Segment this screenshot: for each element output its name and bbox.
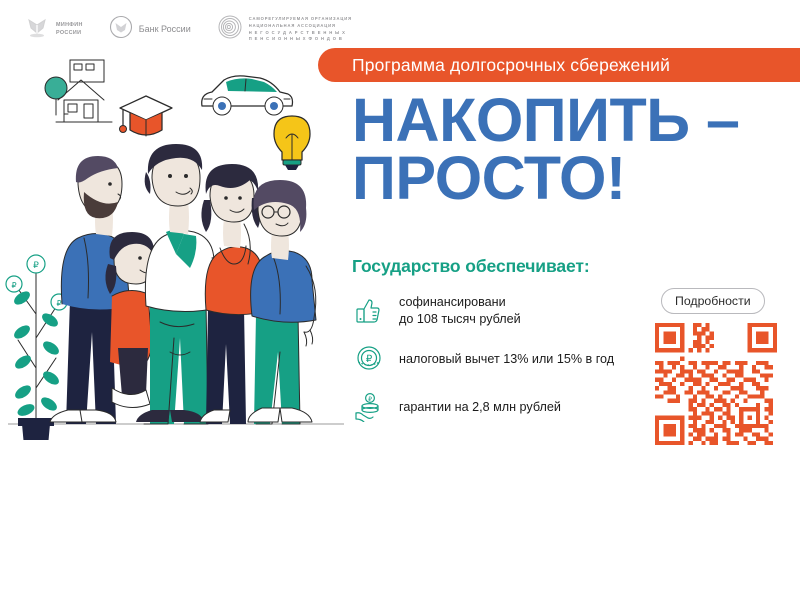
details-button-label: Подробности	[675, 294, 751, 308]
benefit-item-cofinancing: софинансировани до 108 тысяч рублей	[352, 287, 652, 335]
logo-strip: МИНФИНРОССИИ Банк России	[24, 14, 352, 45]
house-icon	[45, 60, 112, 122]
minfin-logo-text: МИНФИНРОССИИ	[56, 22, 83, 38]
page-title: НАКОПИТЬ – ПРОСТО!	[352, 92, 792, 208]
napf-logo: САМОРЕГУЛИРУЕМАЯ ОРГАНИЗАЦИЯ НАЦИОНАЛЬНА…	[217, 14, 352, 45]
figure-grandmother	[251, 180, 316, 424]
double-headed-eagle-icon	[109, 15, 133, 44]
headline-line-2: ПРОСТО!	[352, 150, 792, 208]
benefit-text: налоговый вычет 13% или 15% в год	[399, 351, 614, 368]
benefits-subheading: Государство обеспечивает:	[352, 256, 590, 277]
banner-text: Программа долгосрочных сбережений	[352, 55, 670, 76]
svg-text:₽: ₽	[11, 281, 16, 290]
double-headed-eagle-icon	[24, 14, 50, 45]
thumbs-up-icon	[352, 294, 386, 328]
benefit-item-tax-deduction: ₽ налоговый вычет 13% или 15% в год	[352, 335, 652, 383]
lightbulb-icon	[274, 116, 310, 170]
hand-with-coins-icon: ₽	[352, 390, 386, 424]
car-icon	[202, 76, 293, 115]
ruble-coin-icon: ₽	[352, 342, 386, 376]
svg-text:₽: ₽	[366, 354, 373, 365]
bank-rossii-logo-text: Банк России	[139, 23, 191, 36]
svg-text:₽: ₽	[33, 260, 39, 270]
shoes	[50, 408, 312, 422]
benefit-text: софинансировани до 108 тысяч рублей	[399, 294, 521, 327]
svg-text:₽: ₽	[56, 299, 61, 308]
money-plant-icon: ₽ ₽ ₽	[6, 255, 67, 440]
program-banner: Программа долгосрочных сбережений	[318, 48, 800, 82]
family-illustration: .ln{fill:none;stroke:#2b2b2b;stroke-widt…	[0, 52, 352, 440]
poster-root: МИНФИНРОССИИ Банк России	[0, 0, 800, 600]
minfin-logo: МИНФИНРОССИИ	[24, 14, 83, 45]
spiral-icon	[217, 14, 243, 45]
details-button[interactable]: Подробности	[661, 288, 765, 314]
qr-code[interactable]	[655, 323, 777, 445]
benefit-item-guarantee: ₽ гарантии на 2,8 млн рублей	[352, 383, 652, 431]
svg-text:₽: ₽	[368, 396, 372, 403]
napf-logo-text: САМОРЕГУЛИРУЕМАЯ ОРГАНИЗАЦИЯ НАЦИОНАЛЬНА…	[249, 16, 352, 44]
graduation-cap-icon	[120, 96, 173, 136]
benefits-list: софинансировани до 108 тысяч рублей ₽ на…	[352, 287, 652, 431]
benefit-text: гарантии на 2,8 млн рублей	[399, 399, 561, 416]
bank-rossii-logo: Банк России	[109, 15, 191, 44]
